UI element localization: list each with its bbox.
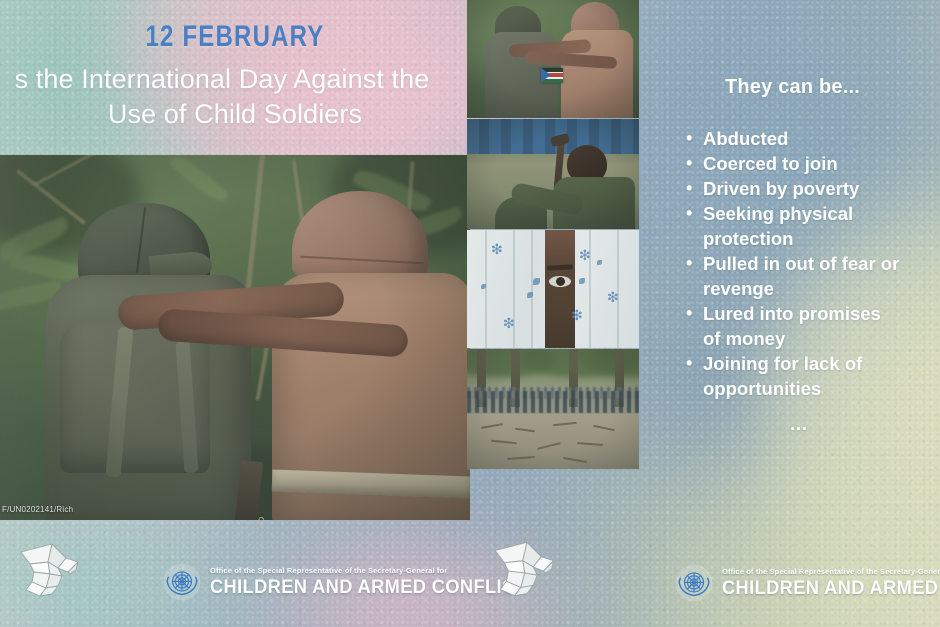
list-item: •Driven by poverty xyxy=(703,177,940,201)
list-item-continuation: revenge xyxy=(703,277,940,301)
cloth-fold xyxy=(485,230,487,348)
face-gap xyxy=(545,230,575,348)
headline-block: 12 FEBRUARY s the International Day Agai… xyxy=(0,0,470,155)
cloth-motif-dot xyxy=(481,284,486,289)
list-item-label: Joining for lack of xyxy=(703,353,862,374)
photo-vignette xyxy=(467,349,639,469)
photo-credit: F/UN0202141/Rich xyxy=(2,505,73,514)
cloth-flower-motif: ❇ xyxy=(607,290,619,304)
headline-line-2: Use of Child Soldiers xyxy=(0,97,470,132)
cloth-motif-dot xyxy=(527,292,533,298)
list-item-continuation: opportunities xyxy=(703,377,940,401)
un-logo-lockup: Office of the Special Representative of … xyxy=(675,564,940,602)
list-item: •Lured into promises xyxy=(703,302,940,326)
list-item: •Seeking physical xyxy=(703,202,940,226)
list-item-label: protection xyxy=(703,228,793,249)
date-label: 12 FEBRUARY xyxy=(47,20,423,54)
photo-vignette xyxy=(467,119,639,229)
main-photo: ★ S.SUD F/UN0202141/Rich xyxy=(0,155,470,520)
list-item-label: of money xyxy=(703,328,785,349)
panel-heading: They can be... xyxy=(645,76,940,99)
page-title: s the International Day Against the Use … xyxy=(0,62,470,132)
list-item-label: Pulled in out of fear or xyxy=(703,253,899,274)
bullet-icon: • xyxy=(686,202,692,225)
strip-photo-3: ❇ ❇ ❇ ❇ ❇ xyxy=(467,230,639,348)
bullet-icon: • xyxy=(686,127,692,150)
origami-dove-icon xyxy=(492,540,566,600)
reasons-list: •Abducted •Coerced to join •Driven by po… xyxy=(645,127,940,402)
photo-vignette xyxy=(467,0,639,118)
cloth-motif-dot xyxy=(533,278,540,285)
list-item-label: Abducted xyxy=(703,128,788,149)
photo-strip: ❇ ❇ ❇ ❇ ❇ xyxy=(467,0,639,470)
list-item-label: opportunities xyxy=(703,378,821,399)
bullet-icon: • xyxy=(686,252,692,275)
cloth-flower-motif: ❇ xyxy=(579,248,591,262)
un-logo-text: Office of the Special Representative of … xyxy=(722,568,940,598)
cloth-motif-dot xyxy=(579,278,585,284)
list-item: •Pulled in out of fear or xyxy=(703,252,940,276)
cloth-flower-motif: ❇ xyxy=(491,242,503,256)
bullet-icon: • xyxy=(686,152,692,175)
list-item-label: Coerced to join xyxy=(703,153,838,174)
footer-right: Office of the Special Representative of … xyxy=(470,520,940,627)
poster-canvas: 12 FEBRUARY s the International Day Agai… xyxy=(0,0,940,627)
cloth-flower-motif: ❇ xyxy=(503,316,515,330)
origami-dove-icon xyxy=(18,542,90,600)
list-item: •Coerced to join xyxy=(703,152,940,176)
list-item-continuation: protection xyxy=(703,227,940,251)
un-office-line: Office of the Special Representative of … xyxy=(722,568,940,576)
list-item-label: Lured into promises xyxy=(703,303,881,324)
cloth-motif-dot xyxy=(597,260,602,265)
list-ellipsis: ... xyxy=(645,414,940,435)
list-item-label: Driven by poverty xyxy=(703,178,859,199)
main-photo-vignette xyxy=(0,155,470,520)
un-emblem-icon xyxy=(675,564,713,602)
cloth-fold xyxy=(531,230,533,348)
cloth-flower-motif: ❇ xyxy=(571,308,583,322)
strip-photo-4 xyxy=(467,349,639,469)
footer-left: Office of the Special Representative of … xyxy=(0,520,470,627)
headline-line-1: s the International Day Against the xyxy=(0,62,470,97)
bullet-icon: • xyxy=(686,177,692,200)
right-text-panel: They can be... •Abducted •Coerced to joi… xyxy=(645,0,940,540)
list-item: •Abducted xyxy=(703,127,940,151)
iris xyxy=(556,277,565,286)
strip-photo-2 xyxy=(467,119,639,229)
bullet-icon: • xyxy=(686,302,692,325)
list-item-continuation: of money xyxy=(703,327,940,351)
list-item: •Joining for lack of xyxy=(703,352,940,376)
list-item-label: Seeking physical xyxy=(703,203,853,224)
list-item-label: revenge xyxy=(703,278,774,299)
un-programme-line: CHILDREN AND ARMED CONFLIC xyxy=(722,579,940,598)
un-emblem-icon xyxy=(163,563,201,601)
strip-photo-1 xyxy=(467,0,639,118)
bullet-icon: • xyxy=(686,352,692,375)
